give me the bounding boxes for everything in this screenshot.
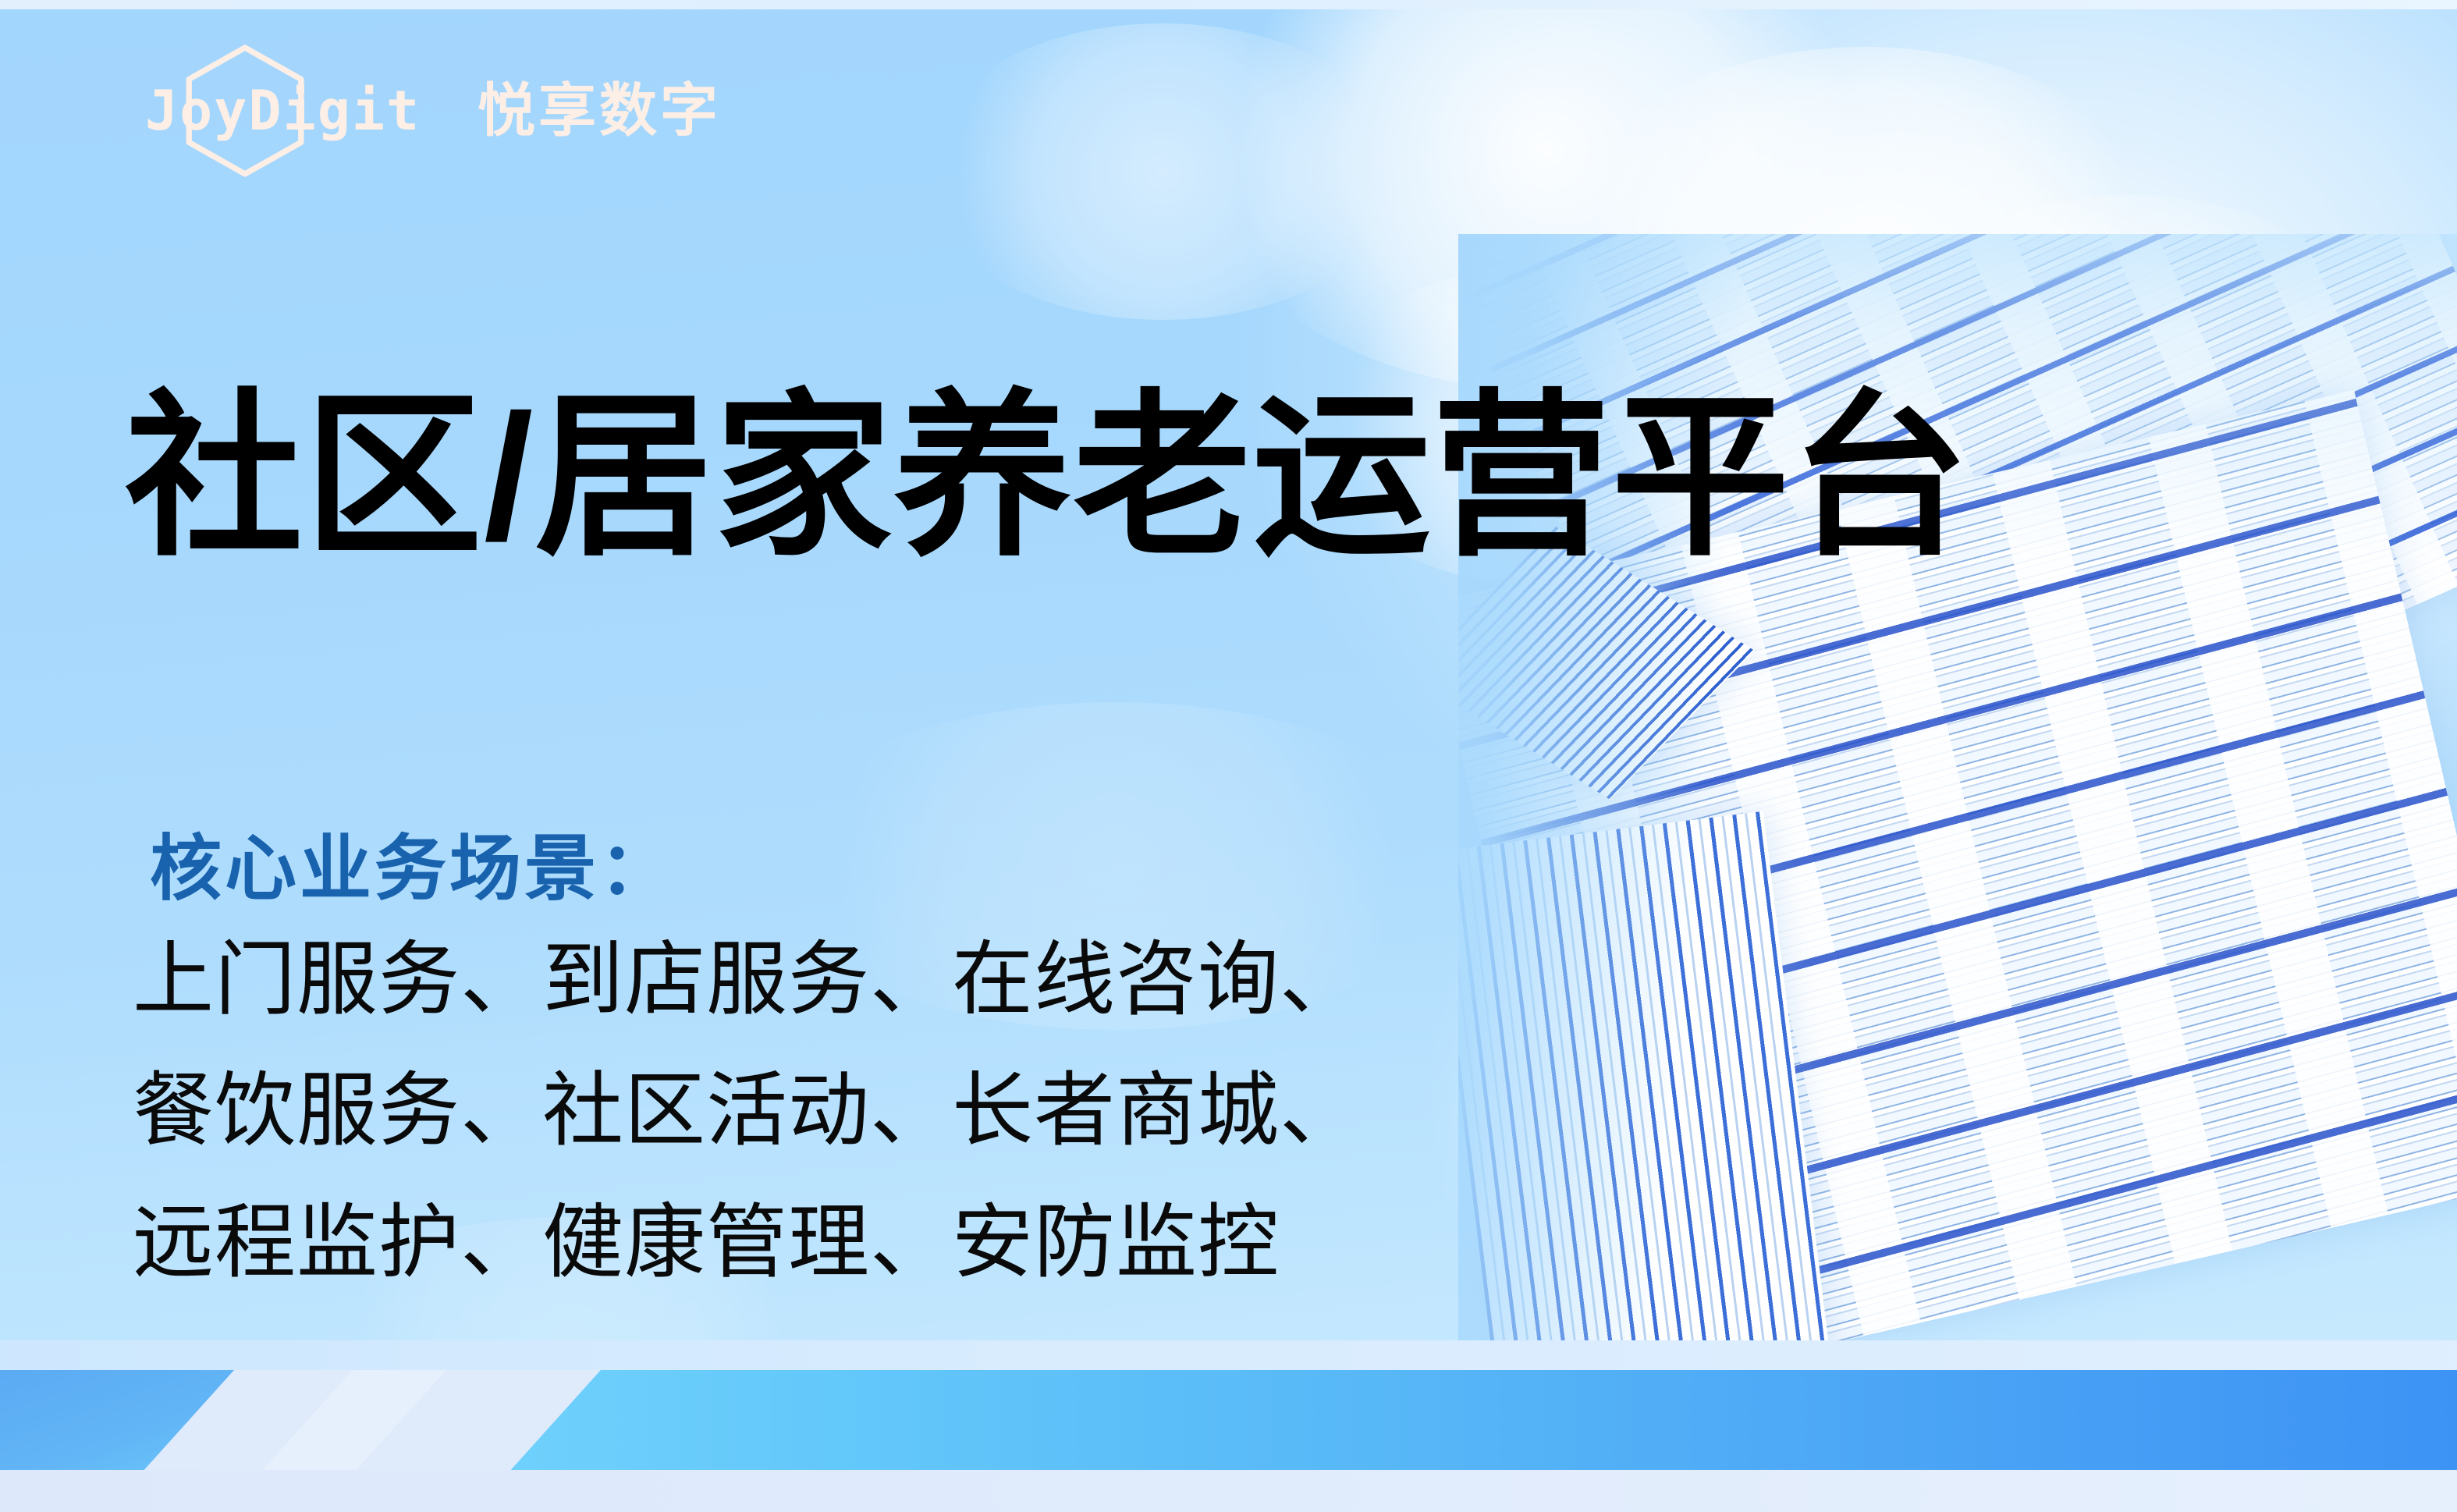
band-bottom-strip (0, 1470, 2457, 1512)
scenario-line: 餐饮服务、社区活动、长者商城、 (133, 1045, 1362, 1177)
section-heading-core-scenarios: 核心业务场景： (150, 830, 674, 909)
top-edge-strip (0, 0, 2457, 9)
scenario-list: 上门服务、到店服务、在线咨询、 餐饮服务、社区活动、长者商城、 远程监护、健康管… (133, 914, 1362, 1308)
band-top-strip (0, 1340, 2457, 1370)
logo-latin-text: JoyDigit (145, 83, 421, 138)
page-title: 社区/居家养老运营平台 (125, 378, 1970, 577)
scenario-line: 远程监护、健康管理、安防监控 (133, 1177, 1362, 1308)
footer-decorative-band (0, 1340, 2457, 1512)
logo-chinese-text: 悦享数字 (478, 82, 721, 140)
slide-root: JoyDigit 悦享数字 社区/居家养老运营平台 核心业务场景： 上门服务、到… (0, 0, 2457, 1512)
brand-logo[interactable]: JoyDigit 悦享数字 (145, 67, 721, 154)
scenario-line: 上门服务、到店服务、在线咨询、 (133, 914, 1362, 1045)
logo-mark: JoyDigit (145, 67, 454, 154)
